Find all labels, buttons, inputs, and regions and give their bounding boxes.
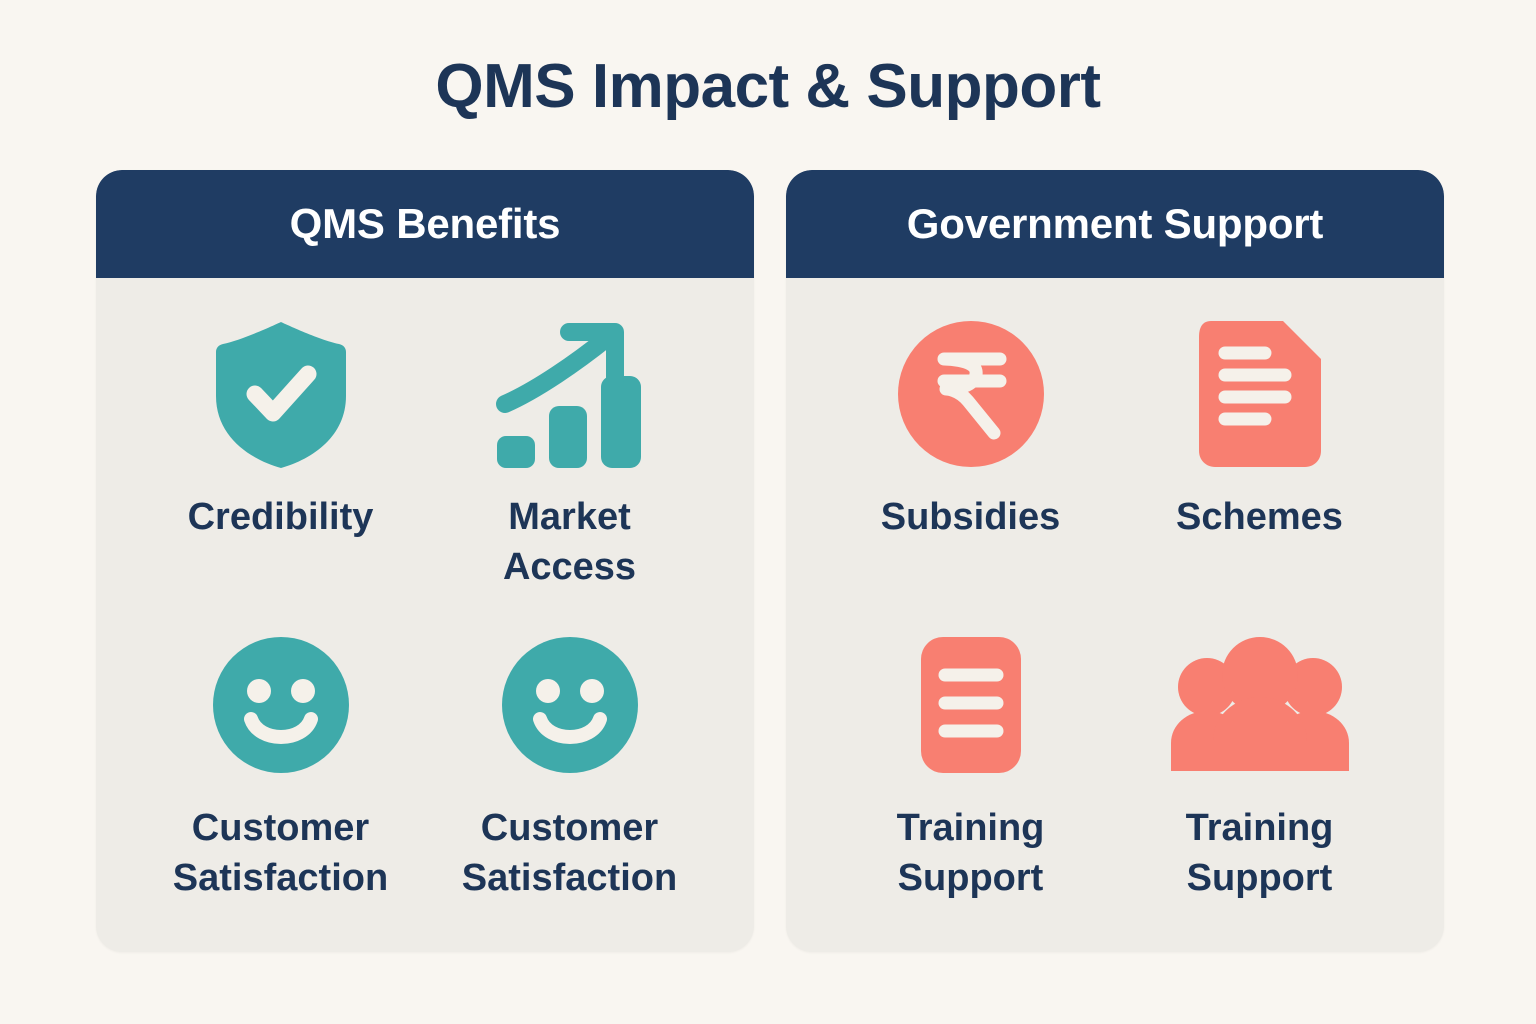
item-subsidies[interactable]: Subsidies <box>826 300 1115 611</box>
card-header-government-support: Government Support <box>786 170 1444 278</box>
shield-check-icon <box>215 314 347 474</box>
item-market-access[interactable]: Market Access <box>425 300 714 611</box>
page-title: QMS Impact & Support <box>0 56 1536 118</box>
item-label: Market Access <box>503 492 636 592</box>
card-body-government-support: Subsidies <box>786 278 1444 952</box>
document-folded-icon <box>1197 314 1323 474</box>
item-credibility[interactable]: Credibility <box>136 300 425 611</box>
growth-chart-icon <box>495 314 645 474</box>
item-label: Training Support <box>897 803 1045 903</box>
card-header-qms-benefits: QMS Benefits <box>96 170 754 278</box>
item-label: Credibility <box>188 492 374 542</box>
item-training-support-2[interactable]: Training Support <box>1115 611 1404 922</box>
card-qms-benefits: QMS Benefits Credibility <box>96 170 754 952</box>
card-government-support: Government Support Subsidies <box>786 170 1444 952</box>
smiley-face-icon <box>500 625 640 785</box>
item-label: Schemes <box>1176 492 1343 542</box>
item-label: Subsidies <box>881 492 1061 542</box>
item-label: Customer Satisfaction <box>462 803 677 903</box>
item-label: Customer Satisfaction <box>173 803 388 903</box>
rupee-circle-icon <box>896 314 1046 474</box>
smiley-face-icon <box>211 625 351 785</box>
document-lines-icon <box>919 625 1023 785</box>
card-header-title: Government Support <box>907 203 1323 245</box>
card-header-title: QMS Benefits <box>290 203 561 245</box>
item-label: Training Support <box>1186 803 1334 903</box>
item-customer-satisfaction-2[interactable]: Customer Satisfaction <box>425 611 714 922</box>
item-customer-satisfaction-1[interactable]: Customer Satisfaction <box>136 611 425 922</box>
people-group-icon <box>1169 625 1351 785</box>
cards-container: QMS Benefits Credibility <box>96 170 1444 952</box>
item-schemes[interactable]: Schemes <box>1115 300 1404 611</box>
card-body-qms-benefits: Credibility Market Access <box>96 278 754 952</box>
infographic-page: QMS Impact & Support QMS Benefits Credib… <box>0 0 1536 1024</box>
item-training-support-1[interactable]: Training Support <box>826 611 1115 922</box>
